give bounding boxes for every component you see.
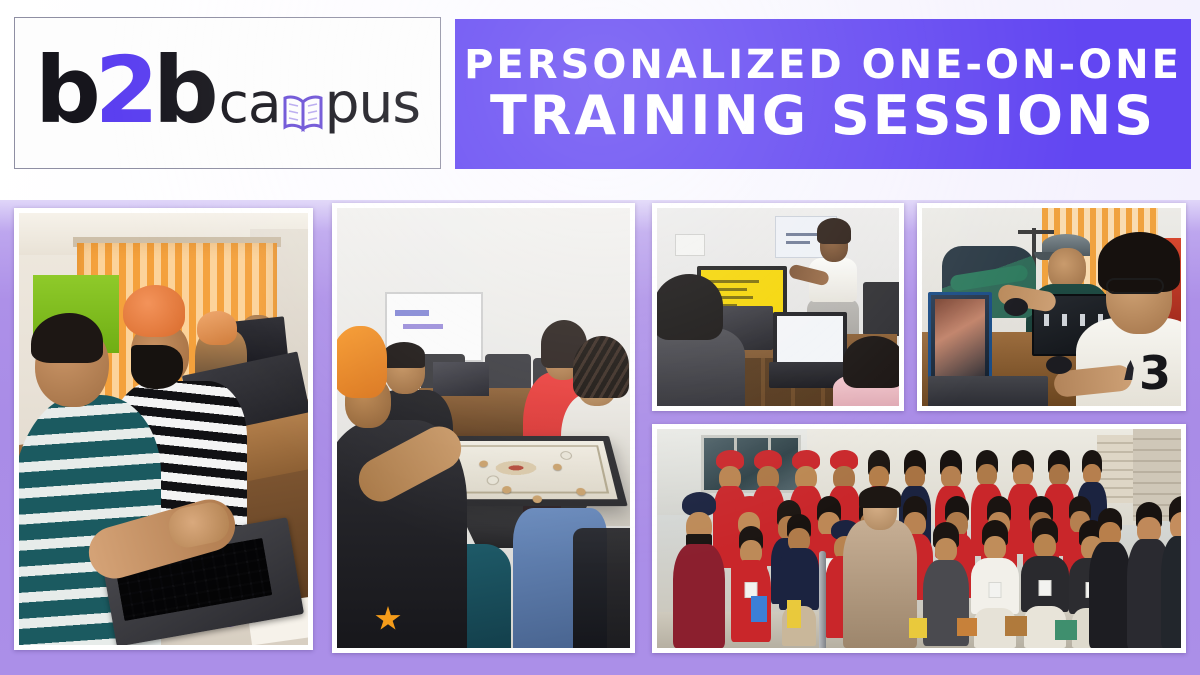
brand-logo-b2b-mark: b2b bbox=[35, 45, 213, 137]
photo-one-on-one-presentation bbox=[652, 203, 904, 411]
photo-collage: 3 bbox=[0, 196, 1200, 675]
scene-carrom-room bbox=[337, 208, 630, 648]
photo-hands-on-laptop-duo: 3 bbox=[917, 203, 1186, 411]
jersey-number: 3 bbox=[1139, 350, 1171, 396]
scene-laptop-duo: 3 bbox=[922, 208, 1181, 406]
poster-canvas: b2b ca pus PERSONALIZED ONE-ON-ONE TRAIN… bbox=[0, 0, 1200, 675]
headline-line-2: TRAINING SESSIONS bbox=[490, 86, 1156, 146]
scene-group-photo bbox=[657, 429, 1181, 648]
brand-letter-b-second: b bbox=[153, 37, 213, 144]
wordmark-segment-pus: pus bbox=[325, 76, 420, 131]
brand-logo-card: b2b ca pus bbox=[14, 17, 441, 169]
brand-letter-two-accent: 2 bbox=[95, 37, 153, 144]
open-book-icon bbox=[281, 93, 325, 133]
photo-carrom-break-room bbox=[332, 203, 635, 653]
photo-school-group bbox=[652, 424, 1186, 653]
brand-letter-b-first: b bbox=[35, 37, 95, 144]
brand-logo-campus-wordmark: ca pus bbox=[219, 76, 420, 131]
photo-computer-lab-row bbox=[14, 208, 313, 650]
poster-header: b2b ca pus PERSONALIZED ONE-ON-ONE TRAIN… bbox=[0, 0, 1200, 196]
scene-computer-lab bbox=[19, 213, 308, 645]
group-teacher bbox=[843, 520, 917, 648]
brand-logo: b2b ca pus bbox=[35, 45, 420, 137]
wordmark-segment-ca: ca bbox=[219, 76, 281, 131]
headline-line-1: PERSONALIZED ONE-ON-ONE bbox=[464, 42, 1182, 88]
headline-banner: PERSONALIZED ONE-ON-ONE TRAINING SESSION… bbox=[455, 19, 1191, 169]
scene-presentation bbox=[657, 208, 899, 406]
group-crowd bbox=[657, 429, 1181, 648]
